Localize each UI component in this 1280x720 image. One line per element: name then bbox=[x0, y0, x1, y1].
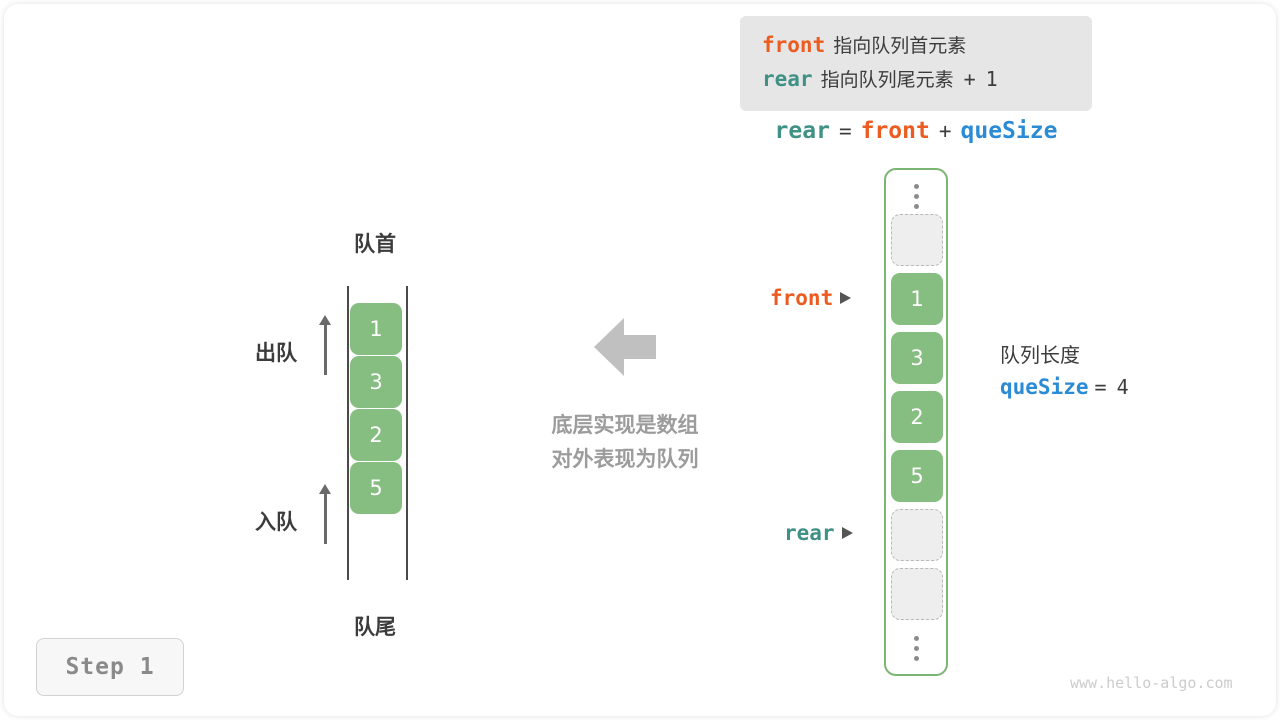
array-slot-6 bbox=[891, 568, 943, 620]
formula-plus: + bbox=[939, 119, 952, 143]
rear-arrowhead-icon bbox=[842, 527, 853, 539]
center-caption-line2: 对外表现为队列 bbox=[500, 442, 750, 476]
queue-tail-label: 队尾 bbox=[315, 611, 435, 641]
array-slot-4-value: 5 bbox=[910, 464, 923, 488]
enqueue-label: 入队 bbox=[255, 506, 297, 536]
center-caption-line1: 底层实现是数组 bbox=[500, 408, 750, 442]
array-slot-2-value: 3 bbox=[910, 346, 923, 370]
array-slot-1: 1 bbox=[891, 273, 943, 325]
formula-equals: = bbox=[839, 119, 852, 143]
enqueue-arrow-icon bbox=[316, 484, 334, 544]
front-description: 指向队列首元素 bbox=[833, 35, 966, 57]
front-arrowhead-icon bbox=[840, 292, 851, 304]
queue-rail-right bbox=[406, 286, 408, 580]
front-keyword: front bbox=[762, 33, 825, 57]
array-slot-3-value: 2 bbox=[910, 405, 923, 429]
queue-cell-0-value: 1 bbox=[369, 317, 382, 341]
diagram-canvas: front指向队列首元素 rear指向队列尾元素+1 rear=front+qu… bbox=[0, 0, 1280, 720]
queue-cell-3-value: 5 bbox=[369, 476, 382, 500]
queue-cell-2-value: 2 bbox=[369, 423, 382, 447]
top-ellipsis-icon bbox=[886, 176, 946, 216]
watermark: www.hello-algo.com bbox=[1070, 674, 1233, 692]
quesize-variable: queSize bbox=[1000, 375, 1089, 399]
rear-keyword: rear bbox=[762, 67, 813, 91]
quesize-value: 4 bbox=[1117, 375, 1129, 399]
legend-line-front: front指向队列首元素 bbox=[762, 28, 1092, 62]
queue-size-note: 队列长度 queSize=4 bbox=[1000, 340, 1129, 405]
queue-rail-left bbox=[347, 286, 349, 580]
dequeue-arrow-icon bbox=[316, 315, 334, 375]
step-badge: Step 1 bbox=[36, 638, 184, 696]
rear-pointer-label: rear bbox=[784, 521, 835, 545]
queue-cell-2: 2 bbox=[350, 409, 402, 461]
queue-cell-3: 5 bbox=[350, 462, 402, 514]
queue-head-label: 队首 bbox=[315, 228, 435, 258]
quesize-equals: = bbox=[1095, 375, 1107, 399]
queue-size-title: 队列长度 bbox=[1000, 340, 1129, 370]
array-slot-4: 5 bbox=[891, 450, 943, 502]
array-slot-0 bbox=[891, 214, 943, 266]
rear-plus-sign: + bbox=[964, 67, 976, 91]
array-slot-1-value: 1 bbox=[910, 287, 923, 311]
array-slot-2: 3 bbox=[891, 332, 943, 384]
formula-quesize: queSize bbox=[961, 118, 1058, 144]
rear-pointer: rear bbox=[784, 521, 853, 545]
center-caption: 底层实现是数组 对外表现为队列 bbox=[500, 408, 750, 476]
left-arrow-icon bbox=[594, 318, 656, 376]
array-slot-3: 2 bbox=[891, 391, 943, 443]
queue-size-expression: queSize=4 bbox=[1000, 370, 1129, 405]
front-pointer: front bbox=[770, 286, 851, 310]
array-container: 1 3 2 5 bbox=[884, 168, 948, 676]
formula-rear: rear bbox=[775, 118, 830, 144]
legend-line-rear: rear指向队列尾元素+1 bbox=[762, 62, 1092, 96]
array-slot-5 bbox=[891, 509, 943, 561]
bottom-ellipsis-icon bbox=[886, 628, 946, 668]
legend-box: front指向队列首元素 rear指向队列尾元素+1 bbox=[740, 16, 1092, 111]
rear-offset-one: 1 bbox=[986, 67, 998, 91]
rear-formula: rear=front+queSize bbox=[740, 118, 1092, 144]
front-pointer-label: front bbox=[770, 286, 833, 310]
queue-cell-0: 1 bbox=[350, 303, 402, 355]
queue-cell-1: 3 bbox=[350, 356, 402, 408]
dequeue-label: 出队 bbox=[255, 337, 297, 367]
formula-front: front bbox=[861, 118, 930, 144]
queue-cell-1-value: 3 bbox=[369, 370, 382, 394]
rear-description: 指向队列尾元素 bbox=[821, 69, 954, 91]
